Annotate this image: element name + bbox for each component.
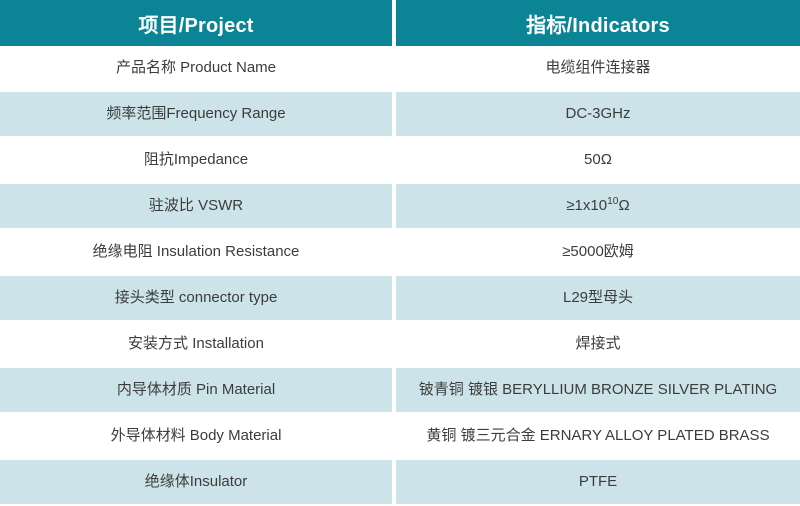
column-header-project: 项目/Project: [0, 0, 396, 46]
table-row: 频率范围Frequency Range DC-3GHz: [0, 92, 800, 138]
cell-project-vswr: 驻波比 VSWR: [0, 184, 396, 230]
table-header-row: 项目/Project 指标/Indicators: [0, 0, 800, 46]
table-row: 安装方式 Installation 焊接式: [0, 322, 800, 368]
cell-indicator-installation: 焊接式: [396, 322, 800, 368]
vswr-value-suffix: Ω: [618, 197, 629, 214]
cell-project-pin-material: 内导体材质 Pin Material: [0, 368, 396, 414]
cell-project-insulator: 绝缘体Insulator: [0, 460, 396, 506]
specification-table: 项目/Project 指标/Indicators 产品名称 Product Na…: [0, 0, 800, 506]
table-row: 绝缘体Insulator PTFE: [0, 460, 800, 506]
table-row: 阻抗Impedance 50Ω: [0, 138, 800, 184]
table-body: 产品名称 Product Name 电缆组件连接器 频率范围Frequency …: [0, 46, 800, 506]
cell-project-name: 产品名称 Product Name: [0, 46, 396, 92]
table-row: 接头类型 connector type L29型母头: [0, 276, 800, 322]
cell-indicator-vswr: ≥1x1010Ω: [396, 184, 800, 230]
cell-project-impedance: 阻抗Impedance: [0, 138, 396, 184]
table-row: 驻波比 VSWR ≥1x1010Ω: [0, 184, 800, 230]
cell-indicator-connector-type: L29型母头: [396, 276, 800, 322]
cell-indicator-body-material: 黄铜 镀三元合金 ERNARY ALLOY PLATED BRASS: [396, 414, 800, 460]
cell-indicator-frequency-range: DC-3GHz: [396, 92, 800, 138]
cell-project-insulation-resistance: 绝缘电阻 Insulation Resistance: [0, 230, 396, 276]
vswr-value-exponent: 10: [607, 196, 618, 207]
cell-indicator-pin-material: 铍青铜 镀银 BERYLLIUM BRONZE SILVER PLATING: [396, 368, 800, 414]
table-header: 项目/Project 指标/Indicators: [0, 0, 800, 46]
cell-project-installation: 安装方式 Installation: [0, 322, 396, 368]
cell-project-connector-type: 接头类型 connector type: [0, 276, 396, 322]
column-header-indicators: 指标/Indicators: [396, 0, 800, 46]
table-row: 产品名称 Product Name 电缆组件连接器: [0, 46, 800, 92]
cell-indicator-insulator: PTFE: [396, 460, 800, 506]
cell-project-body-material: 外导体材料 Body Material: [0, 414, 396, 460]
cell-indicator-insulation-resistance: ≥5000欧姆: [396, 230, 800, 276]
vswr-value-prefix: ≥1x10: [566, 197, 607, 214]
table-row: 内导体材质 Pin Material 铍青铜 镀银 BERYLLIUM BRON…: [0, 368, 800, 414]
cell-indicator-impedance: 50Ω: [396, 138, 800, 184]
cell-project-frequency-range: 频率范围Frequency Range: [0, 92, 396, 138]
table-row: 绝缘电阻 Insulation Resistance ≥5000欧姆: [0, 230, 800, 276]
cell-indicator-name: 电缆组件连接器: [396, 46, 800, 92]
table-row: 外导体材料 Body Material 黄铜 镀三元合金 ERNARY ALLO…: [0, 414, 800, 460]
